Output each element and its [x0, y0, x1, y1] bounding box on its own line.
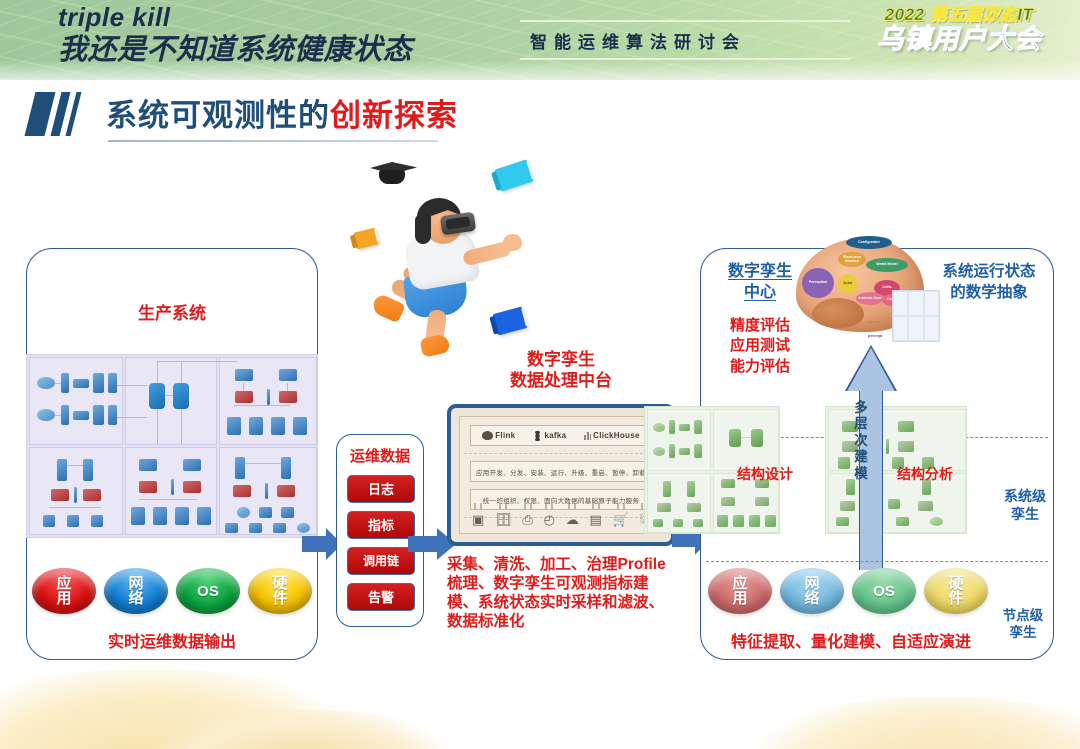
pill-application-l2: 用 — [56, 591, 71, 606]
platform-inner: Flink kafka ClickHouse 应用开发、分发、安装、运行、升级、… — [459, 416, 663, 534]
clickhouse-label: ClickHouse — [593, 431, 640, 440]
brain-node-configurator: Configurator — [846, 236, 892, 249]
orange-book-icon — [353, 228, 378, 250]
right-panel-caption: 特征提取、量化建模、自适应演进 — [706, 628, 996, 652]
conference-logo: 2022 第五届双态IT 乌镇用户大会 — [864, 6, 1054, 72]
platform-icon-strip: ▣ 🗄 ⎙ ◴ ☁ ▤ 🛒 ⛆ — [468, 506, 654, 528]
header-title: triple kill 我还是不知道系统健康状态 — [58, 4, 412, 65]
ops-data-heading: 运维数据 — [337, 445, 423, 466]
twin-pill-network-l1: 网 — [804, 576, 819, 591]
math-abstraction-l1: 系统运行状态 — [930, 262, 1048, 283]
page-title-main: 系统可观测性的 — [106, 98, 330, 133]
node-twin-l2: 孪生 — [992, 625, 1054, 642]
system-twin-l1: 系统级 — [996, 487, 1054, 505]
server-icon: ▤ — [589, 512, 601, 528]
twin-pill-network[interactable]: 网络 — [780, 568, 844, 614]
header-band: triple kill 我还是不知道系统健康状态 智能运维算法研讨会 2022 … — [0, 0, 1080, 80]
page-title-accent: 创新探索 — [330, 98, 458, 133]
gauge-icon: ◴ — [544, 512, 555, 528]
brain-node-perception: Perception — [802, 268, 834, 298]
right-layer-pills: 应用 网络 OS 硬件 — [708, 568, 988, 614]
ops-chip-trace[interactable]: 调用链 — [347, 547, 415, 575]
math-abstraction-l2: 的数学抽象 — [930, 283, 1048, 304]
brain-architecture-illustration: Configurator Short-term Memory World Mod… — [790, 232, 942, 360]
system-twin-l2: 孪生 — [996, 505, 1054, 523]
structure-analysis-label: 结构分析 — [897, 464, 953, 484]
ops-chip-logs[interactable]: 日志 — [347, 475, 415, 503]
twin-pill-hardware[interactable]: 硬件 — [924, 568, 988, 614]
node-twin-l1: 节点级 — [992, 608, 1054, 625]
hair-side — [415, 214, 431, 244]
twin-pill-application-l2: 用 — [732, 591, 747, 606]
brain-node-short-term-memory: Short-term Memory — [838, 252, 866, 267]
title-underline — [108, 140, 438, 142]
network-topology-diagram — [26, 354, 318, 538]
flink-logo: Flink — [482, 431, 515, 440]
bottom-decoration — [0, 653, 1080, 749]
state-matrix-thumbnail — [892, 290, 940, 342]
pill-os-l1: OS — [197, 584, 219, 599]
container-icon: ⎙ — [522, 512, 532, 528]
pill-network-l1: 网 — [128, 576, 143, 591]
structure-design-label: 结构设计 — [737, 464, 793, 484]
platform-caption: 采集、清洗、加工、治理Profile梳理、数字孪生可观测指标建模、系统状态实时采… — [447, 556, 679, 632]
clickhouse-logo: ClickHouse — [584, 431, 639, 440]
pill-hardware[interactable]: 硬件 — [248, 568, 312, 614]
left-layer-pills: 应用 网络 OS 硬件 — [32, 568, 312, 614]
platform-title: 数字孪生 数据处理中台 — [447, 349, 675, 392]
platform-tech-row: Flink kafka ClickHouse — [470, 425, 652, 446]
pill-os[interactable]: OS — [176, 568, 240, 614]
flink-label: Flink — [495, 431, 515, 440]
page-title: 系统可观测性的创新探索 — [106, 90, 458, 135]
conference-logo-line1: 2022 第五届双态IT — [864, 6, 1054, 23]
cyan-book-icon — [494, 159, 533, 191]
brain-node-world-model: World Model — [866, 258, 908, 272]
pill-hardware-l2: 件 — [272, 591, 287, 606]
kafka-logo: kafka — [533, 431, 566, 441]
pill-network-l2: 络 — [128, 591, 143, 606]
left-panel-caption: 实时运维数据输出 — [26, 628, 318, 652]
pill-application-l1: 应 — [56, 576, 71, 591]
twin-divider-lower — [706, 561, 1048, 562]
blue-book-icon — [493, 306, 528, 335]
vr-person-illustration — [345, 158, 560, 353]
node-twin-label: 节点级 孪生 — [992, 608, 1054, 642]
header-title-cn: 我还是不知道系统健康状态 — [58, 36, 412, 65]
right-hand — [503, 234, 522, 251]
math-abstraction-label: 系统运行状态 的数学抽象 — [930, 262, 1048, 304]
platform-title-line2: 数据处理中台 — [447, 370, 675, 391]
cloud-icon: ☁ — [566, 512, 579, 528]
kafka-label: kafka — [544, 431, 566, 440]
pill-application[interactable]: 应用 — [32, 568, 96, 614]
front-shoe — [419, 333, 450, 357]
database-icon: 🗄 — [495, 512, 512, 528]
pill-network[interactable]: 网络 — [104, 568, 168, 614]
header-rule-top — [520, 20, 850, 22]
cerebellum-icon — [812, 298, 864, 328]
twin-pill-hardware-l2: 件 — [948, 591, 963, 606]
platform-capability-row-1: 应用开发、分发、安装、运行、升级、重启、暂停、卸载 — [470, 461, 652, 482]
production-system-heading: 生产系统 — [27, 299, 317, 324]
header-title-en: triple kill — [58, 4, 412, 30]
twin-pill-network-l2: 络 — [804, 591, 819, 606]
title-bars-icon — [30, 92, 82, 136]
graduation-cap-icon — [367, 158, 417, 186]
twin-pill-hardware-l1: 硬 — [948, 576, 963, 591]
brain-node-intrinsic-cost: Intrinsic Cost — [856, 292, 884, 305]
ops-chip-alert[interactable]: 告警 — [347, 583, 415, 611]
data-platform-panel: Flink kafka ClickHouse 应用开发、分发、安装、运行、升级、… — [447, 404, 675, 546]
vr-headset-icon — [440, 212, 476, 236]
chip-icon: ▣ — [472, 512, 484, 528]
ops-chip-metrics[interactable]: 指标 — [347, 511, 415, 539]
cart-icon: 🛒 — [613, 512, 629, 528]
twin-pill-application[interactable]: 应用 — [708, 568, 772, 614]
twin-pill-os[interactable]: OS — [852, 568, 916, 614]
conference-logo-line2: 乌镇用户大会 — [864, 26, 1054, 53]
twin-pill-os-l1: OS — [873, 584, 895, 599]
multilayer-modeling-label: 多层次建模 — [851, 400, 871, 482]
brain-node-actor: Actor — [838, 274, 858, 294]
header-rule-bottom — [520, 58, 850, 60]
pill-hardware-l1: 硬 — [272, 576, 287, 591]
header-subtitle: 智能运维算法研讨会 — [530, 28, 746, 53]
system-twin-label: 系统级 孪生 — [996, 487, 1054, 523]
twin-pill-application-l1: 应 — [732, 576, 747, 591]
